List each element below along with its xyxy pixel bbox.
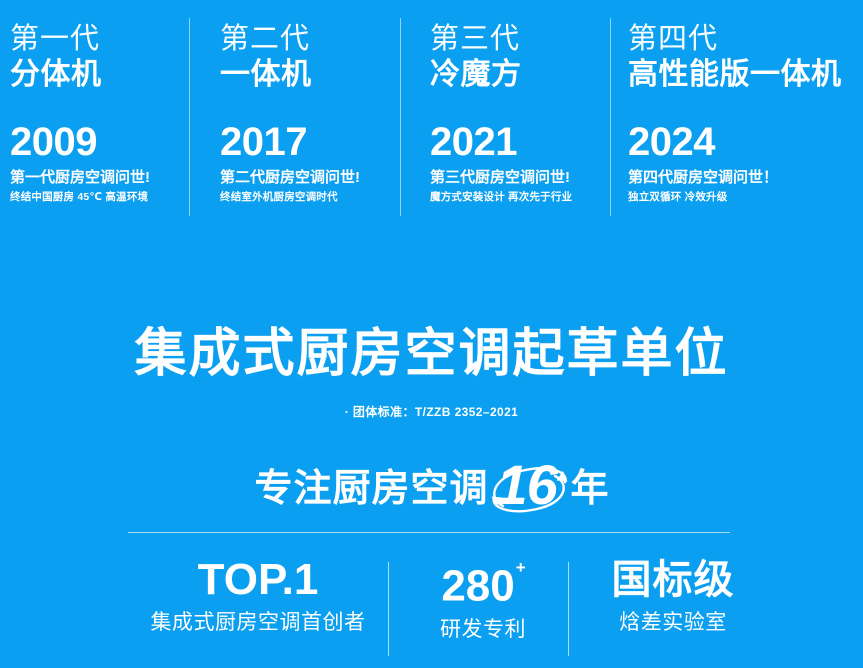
generation-detail: 终结中国厨房 45℃ 高温环境 [10,190,148,204]
generation-timeline: 第一代 分体机 2009 第一代厨房空调问世! 终结中国厨房 45℃ 高温环境 … [0,0,863,228]
generation-year: 2024 [628,120,715,164]
focus-years-line: 专注厨房空调 16 年 [0,458,863,520]
stats-divider-2 [568,562,569,656]
standard-note: · 团体标准：T/ZZB 2352–2021 [0,403,863,421]
generation-year: 2009 [10,120,97,164]
generation-headline: 第二代厨房空调问世! [220,168,360,187]
focus-number-group: 16 [489,458,567,520]
timeline-divider-2 [400,18,401,216]
generation-detail: 终结室外机厨房空调时代 [220,190,338,204]
stat-value-text: 国标级 [612,558,735,602]
stat-label: 研发专利 [398,615,568,645]
stat-label: 焓差实验室 [578,608,768,638]
stat-value: 280+ [398,552,568,615]
stat-value: TOP.1 [128,552,388,608]
stat-item-top1: TOP.1 集成式厨房空调首创者 [128,552,388,638]
generation-ordinal: 第一代 [10,22,100,56]
generation-headline: 第一代厨房空调问世! [10,168,150,187]
timeline-divider-3 [610,18,611,216]
generation-name: 冷魔方 [430,57,522,93]
generation-name: 高性能版一体机 [628,57,842,93]
stat-superscript: + [516,558,526,577]
focus-prefix: 专注厨房空调 [254,463,488,515]
generation-detail: 魔方式安装设计 再次先于行业 [430,190,572,204]
generation-name: 分体机 [10,57,102,93]
stat-label: 集成式厨房空调首创者 [128,608,388,638]
generation-headline: 第四代厨房空调问世！ [628,168,778,187]
stat-value: 国标级 [578,552,768,608]
focus-number: 16 [497,454,557,516]
generation-year: 2021 [430,120,517,164]
stats-divider-1 [388,562,389,656]
generation-name: 一体机 [220,57,312,93]
generation-headline: 第三代厨房空调问世! [430,168,570,187]
generation-detail: 独立双循环 冷效升级 [628,190,727,204]
generation-ordinal: 第二代 [220,22,310,56]
timeline-divider-1 [189,18,190,216]
promo-banner: 第一代 分体机 2009 第一代厨房空调问世! 终结中国厨房 45℃ 高温环境 … [0,0,863,668]
stat-value-text: 280 [441,562,514,611]
generation-ordinal: 第四代 [628,22,718,56]
stat-item-patents: 280+ 研发专利 [398,552,568,645]
stats-row: TOP.1 集成式厨房空调首创者 280+ 研发专利 国标级 焓差实验室 [0,552,863,668]
stat-item-lab: 国标级 焓差实验室 [578,552,768,638]
generation-ordinal: 第三代 [430,22,520,56]
main-headline: 集成式厨房空调起草单位 [0,322,863,386]
stat-value-text: TOP.1 [198,555,319,604]
section-divider [128,532,730,533]
generation-year: 2017 [220,120,307,164]
